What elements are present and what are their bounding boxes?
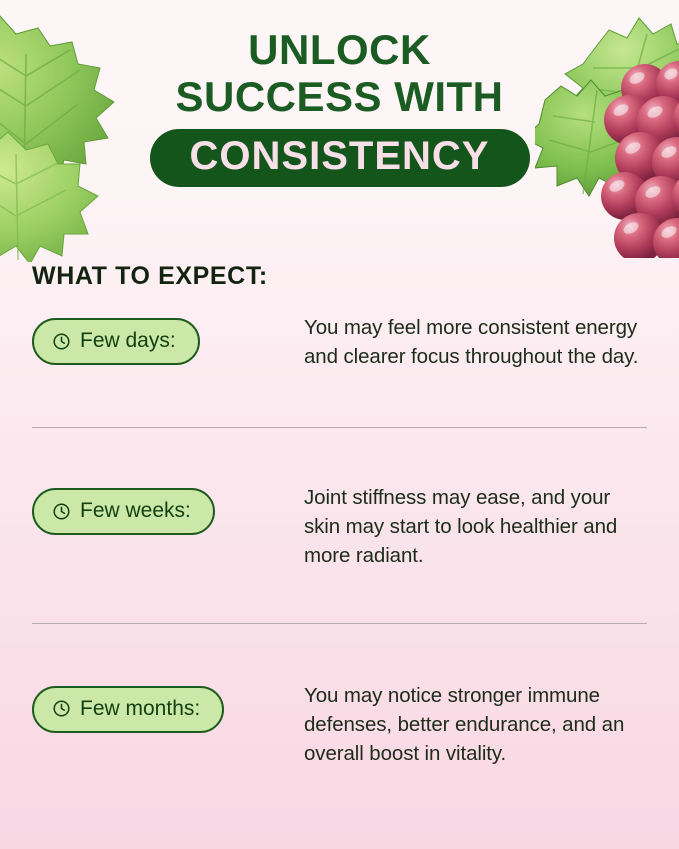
what-to-expect-heading: WHAT TO EXPECT:: [32, 262, 268, 291]
timeframe-pill-few-months: Few months:: [32, 686, 224, 733]
consistency-banner: CONSISTENCY: [150, 129, 530, 187]
timeframe-label: Few months:: [80, 697, 200, 721]
timeframe-pill-few-days: Few days:: [32, 318, 200, 365]
expectation-text: Joint stiffness may ease, and your skin …: [304, 480, 647, 570]
page-header: UNLOCK SUCCESS WITH CONSISTENCY: [0, 26, 679, 187]
clock-icon: [52, 699, 71, 718]
list-item-few-days: Few days: You may feel more consis­tent …: [0, 310, 679, 371]
clock-icon: [52, 332, 71, 351]
expectation-text: You may feel more consis­tent energy and…: [304, 310, 647, 371]
expectation-text: You may notice stronger immune defenses,…: [304, 678, 647, 768]
page-title-line-2: SUCCESS WITH: [0, 73, 679, 120]
timeframe-pill-few-weeks: Few weeks:: [32, 488, 215, 535]
page-title-line-1: UNLOCK: [0, 26, 679, 73]
expectations-list: Few days: You may feel more consis­tent …: [0, 310, 679, 768]
list-item-few-months: Few months: You may notice stronger immu…: [0, 678, 679, 768]
clock-icon: [52, 502, 71, 521]
timeframe-label: Few weeks:: [80, 499, 191, 523]
pill-column: Few days:: [32, 310, 304, 365]
timeframe-label: Few days:: [80, 329, 176, 353]
pill-column: Few months:: [32, 678, 304, 733]
pill-column: Few weeks:: [32, 480, 304, 535]
list-item-few-weeks: Few weeks: Joint stiffness may ease, and…: [0, 480, 679, 570]
